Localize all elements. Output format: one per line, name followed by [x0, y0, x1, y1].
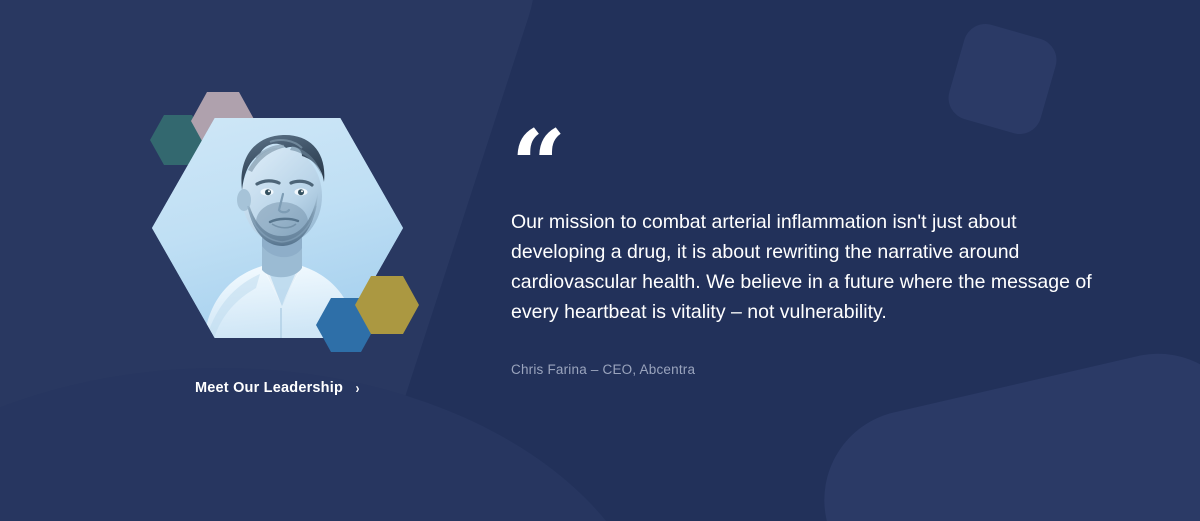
portrait-column: Meet Our Leadership ›	[0, 0, 470, 521]
quote-column: “ Our mission to combat arterial inflamm…	[511, 0, 1131, 521]
quote-attribution: Chris Farina – CEO, Abcentra	[511, 362, 695, 377]
meet-our-leadership-link[interactable]: Meet Our Leadership ›	[195, 380, 360, 396]
quote-text: Our mission to combat arterial inflammat…	[511, 207, 1101, 327]
testimonial-section: Meet Our Leadership › “ Our mission to c…	[0, 0, 1200, 521]
chevron-right-icon: ›	[356, 381, 360, 396]
quote-mark-icon: “	[511, 118, 564, 214]
cta-label: Meet Our Leadership	[195, 380, 343, 396]
hexagon-cluster	[140, 90, 420, 350]
